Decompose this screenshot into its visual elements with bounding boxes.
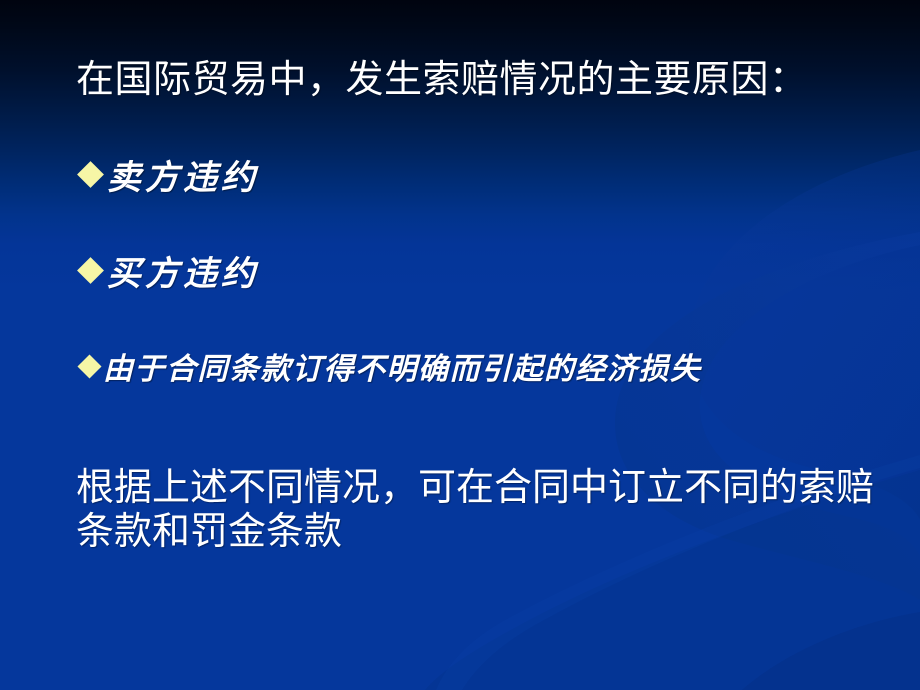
bullet-item-3: 由于合同条款订得不明确而引起的经济损失 <box>78 344 878 388</box>
bullet-item-3-label: 由于合同条款订得不明确而引起的经济损失 <box>103 344 702 388</box>
closing-paragraph-line-2: 条款和罚金条款 <box>76 510 866 554</box>
bullet-item-2-label: 买方违约 <box>107 246 259 295</box>
closing-paragraph-line-1: 根据上述不同情况，可在合同中订立不同的索赔 <box>76 466 866 510</box>
diamond-bullet-icon <box>77 161 104 188</box>
bullet-item-1: 卖方违约 <box>78 152 878 196</box>
bullet-item-2: 买方违约 <box>78 248 878 292</box>
closing-paragraph: 根据上述不同情况，可在合同中订立不同的索赔 条款和罚金条款 <box>76 466 866 554</box>
diamond-bullet-icon <box>77 257 104 284</box>
bullet-list: 卖方违约 买方违约 由于合同条款订得不明确而引起的经济损失 <box>78 152 878 388</box>
bullet-item-1-label: 卖方违约 <box>107 150 259 199</box>
slide-title: 在国际贸易中，发生索赔情况的主要原因： <box>76 56 808 104</box>
presentation-slide: 在国际贸易中，发生索赔情况的主要原因： 卖方违约 买方违约 由于合同条款订得不明… <box>0 0 920 690</box>
diamond-bullet-icon <box>77 354 101 378</box>
